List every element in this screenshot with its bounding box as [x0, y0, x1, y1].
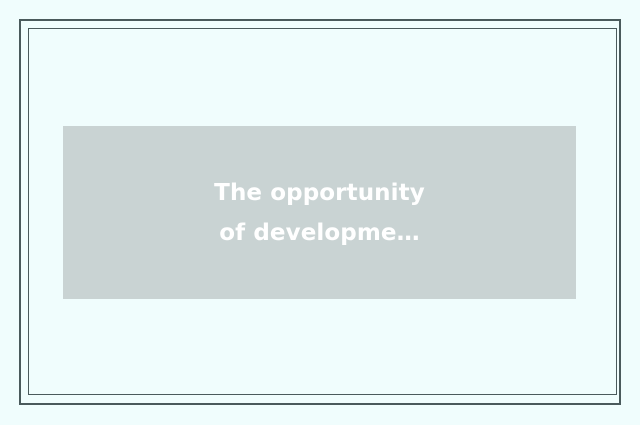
placeholder-caption-text: The opportunity of developme…: [214, 173, 425, 253]
page-canvas: The opportunity of developme…: [0, 0, 640, 425]
image-placeholder[interactable]: The opportunity of developme…: [63, 126, 576, 299]
